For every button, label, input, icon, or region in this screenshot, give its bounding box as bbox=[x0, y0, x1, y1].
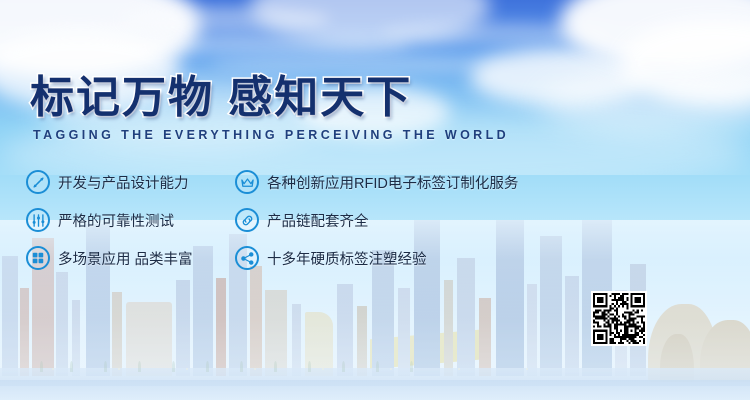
feature-item-supply-chain[interactable]: 产品链配套齐全 bbox=[235, 208, 586, 232]
feature-item-molding-experience[interactable]: 十多年硬质标签注塑经验 bbox=[235, 246, 586, 270]
headline-block: 标记万物 感知天下 TAGGING THE EVERYTHING PERCEIV… bbox=[30, 72, 509, 142]
feature-label: 各种创新应用RFID电子标签订制化服务 bbox=[267, 172, 518, 193]
feature-item-reliability-test[interactable]: 严格的可靠性测试 bbox=[26, 208, 235, 232]
feature-item-multi-scenario[interactable]: 多场景应用 品类丰富 bbox=[26, 246, 235, 270]
tools-icon bbox=[26, 170, 50, 194]
feature-label: 产品链配套齐全 bbox=[267, 210, 369, 231]
link-icon bbox=[235, 208, 259, 232]
share-icon bbox=[235, 246, 259, 270]
grid-icon bbox=[26, 246, 50, 270]
qr-code[interactable] bbox=[591, 291, 647, 346]
feature-label: 严格的可靠性测试 bbox=[58, 210, 174, 231]
feature-row: 多场景应用 品类丰富 十多年硬质标签注塑经验 bbox=[26, 246, 586, 284]
feature-label: 十多年硬质标签注塑经验 bbox=[267, 248, 427, 269]
promo-banner: 标记万物 感知天下 TAGGING THE EVERYTHING PERCEIV… bbox=[0, 0, 750, 400]
crown-icon bbox=[235, 170, 259, 194]
feature-label: 开发与产品设计能力 bbox=[58, 172, 189, 193]
feature-list: 开发与产品设计能力 各种创新应用RFID电子标签订制化服务 bbox=[26, 170, 586, 284]
feature-row: 开发与产品设计能力 各种创新应用RFID电子标签订制化服务 bbox=[26, 170, 586, 208]
waterfront-water bbox=[0, 380, 750, 400]
headline-title: 标记万物 感知天下 bbox=[30, 72, 509, 124]
feature-row: 严格的可靠性测试 产品链配套齐全 bbox=[26, 208, 586, 246]
feature-label: 多场景应用 品类丰富 bbox=[58, 248, 193, 269]
feature-item-rfid-service[interactable]: 各种创新应用RFID电子标签订制化服务 bbox=[235, 170, 586, 194]
sliders-icon bbox=[26, 208, 50, 232]
qr-code-canvas bbox=[593, 293, 645, 344]
feature-item-development[interactable]: 开发与产品设计能力 bbox=[26, 170, 235, 194]
headline-subtitle: TAGGING THE EVERYTHING PERCEIVING THE WO… bbox=[33, 128, 509, 142]
